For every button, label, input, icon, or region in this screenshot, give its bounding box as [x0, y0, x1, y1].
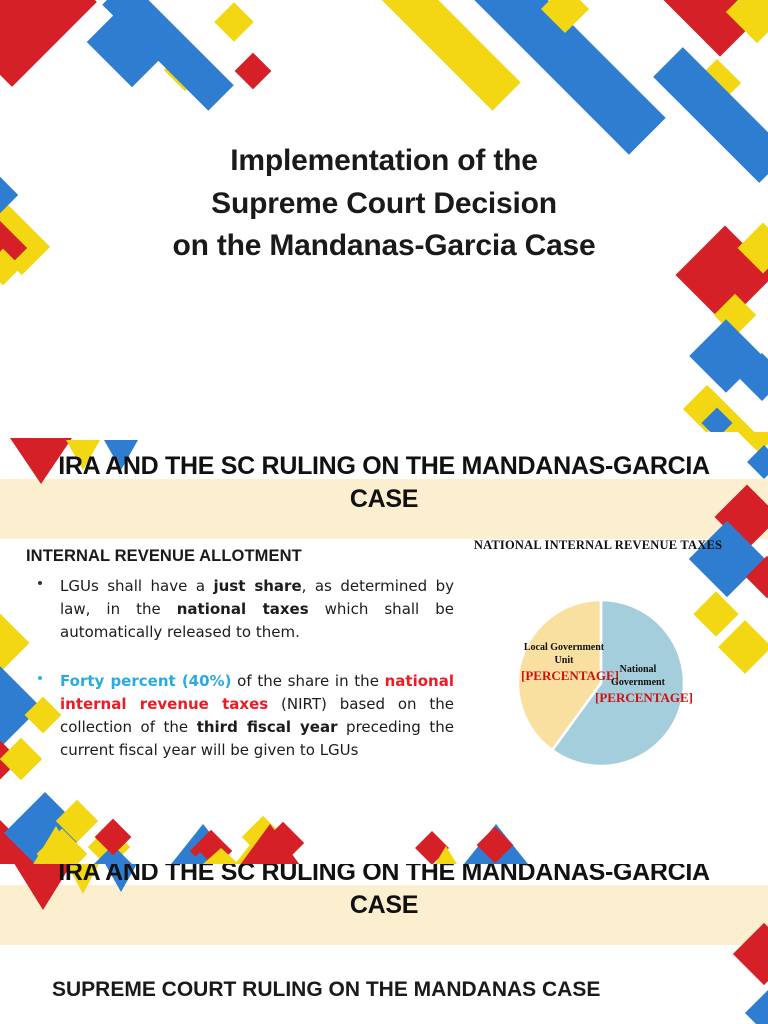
list-item: Forty percent (40%) of the share in the … — [26, 670, 454, 762]
pie-chart-graphic: Local Government Unit [PERCENTAGE] Natio… — [516, 598, 686, 768]
section-title: IRA AND THE SC RULING ON THE MANDANAS-GA… — [34, 864, 734, 922]
decorative-triangle — [232, 824, 308, 864]
pie-slice-value-national: [PERCENTAGE] — [595, 690, 681, 706]
list-item: LGUs shall have a just share, as determi… — [26, 575, 454, 644]
slide-sc-ruling: IRA AND THE SC RULING ON THE MANDANAS-GA… — [0, 864, 768, 1024]
presentation-page: Implementation of the Supreme Court Deci… — [0, 0, 768, 1024]
bullet-dot-icon — [38, 676, 42, 680]
list-item-text: Forty percent (40%) of the share in the … — [60, 670, 454, 762]
pie-slice-label-national-government: National Government [PERCENTAGE] — [595, 664, 681, 706]
decorative-diamond — [235, 53, 272, 90]
subheading-supreme-court-ruling: SUPREME COURT RULING ON THE MANDANAS CAS… — [52, 976, 692, 1003]
pie-slice-name-local: Local Government Unit — [524, 642, 604, 666]
decorative-triangle — [26, 826, 86, 864]
section-title: IRA AND THE SC RULING ON THE MANDANAS-GA… — [34, 450, 734, 516]
pie-slice-name-national: National Government — [611, 664, 665, 688]
decorative-diamond — [0, 0, 97, 87]
title-line-2: Supreme Court Decision — [60, 183, 708, 226]
subheading-internal-revenue-allotment: INTERNAL REVENUE ALLOTMENT — [26, 547, 302, 566]
bullet-list: LGUs shall have a just share, as determi… — [26, 575, 454, 788]
title-line-3: on the Mandanas-Garcia Case — [60, 225, 708, 268]
list-item-text: LGUs shall have a just share, as determi… — [60, 575, 454, 644]
decorative-diamond — [747, 445, 768, 479]
chart-title: NATIONAL INTERNAL REVENUE TAXES — [462, 538, 734, 553]
pie-chart: NATIONAL INTERNAL REVENUE TAXES Local Go… — [462, 538, 762, 828]
decorative-diamond — [745, 989, 768, 1024]
slide-title: Implementation of the Supreme Court Deci… — [0, 0, 768, 432]
slide-ira-sc-ruling: IRA AND THE SC RULING ON THE MANDANAS-GA… — [0, 432, 768, 864]
bullet-dot-icon — [38, 581, 42, 585]
page-title: Implementation of the Supreme Court Deci… — [60, 140, 708, 268]
decorative-diamond — [214, 2, 254, 42]
title-line-1: Implementation of the — [60, 140, 708, 183]
